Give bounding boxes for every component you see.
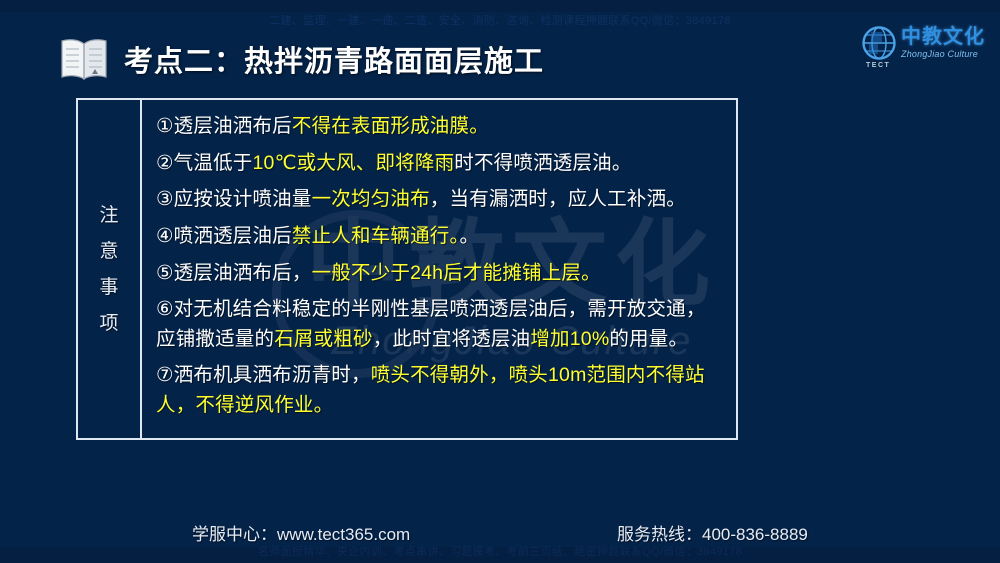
note-item: ④喷洒透层油后禁止人和车辆通行。。: [156, 222, 724, 252]
note-text: ，此时宜将透层油: [373, 328, 531, 350]
notes-label-char: 意: [99, 242, 118, 261]
note-text: ④喷洒透层油后: [156, 225, 292, 247]
notes-label-char: 注: [99, 206, 118, 225]
notes-label-column: 注意事项: [78, 100, 142, 438]
promo-text-bottom: 名师面授精华、央企内训、考点串讲、习题模考、考前三页纸、绝密押题联系QQ/微信：…: [0, 543, 1000, 559]
globe-icon: TECT: [862, 26, 896, 60]
slide: 二建、监理、一建、一造、二造、安全、消防、咨询、检测课程押题联系QQ/微信：38…: [0, 0, 1000, 563]
note-item: ③应按设计喷油量一次均匀油布，当有漏洒时，应人工补洒。: [156, 185, 724, 215]
footer-hotline: 服务热线：400-836-8889: [617, 520, 808, 545]
open-book-icon: [58, 36, 110, 82]
note-item: ⑤透层油洒布后，一般不少于24h后才能摊铺上层。: [156, 259, 724, 289]
note-text-highlight: 增加10%: [530, 328, 609, 350]
promo-text-top: 二建、监理、一建、一造、二造、安全、消防、咨询、检测课程押题联系QQ/微信：38…: [0, 12, 1000, 28]
heading-title-text: 考点二：热拌沥青路面面层施工: [124, 38, 544, 80]
note-item: ⑥对无机结合料稳定的半刚性基层喷洒透层油后，需开放交通，应铺撒适量的石屑或粗砂，…: [156, 295, 724, 354]
note-text-highlight: 10℃或大风、即将降雨: [252, 152, 454, 174]
note-text: 的用量。: [609, 328, 688, 350]
note-text: ②气温低于: [156, 152, 252, 174]
logo-wordmark: 中教文化 ZhongJiao Culture: [901, 27, 985, 59]
notes-label-char: 事: [99, 278, 118, 297]
note-text: 时不得喷洒透层油。: [454, 152, 631, 174]
notes-items-column: ①透层油洒布后不得在表面形成油膜。②气温低于10℃或大风、即将降雨时不得喷洒透层…: [142, 100, 736, 438]
note-text: ①透层油洒布后: [156, 115, 292, 137]
note-text: ，当有漏洒时，应人工补洒。: [430, 188, 686, 210]
note-text-highlight: 一次均匀油布: [312, 188, 430, 210]
logo-tect-mark: TECT: [866, 62, 890, 69]
note-text-highlight: 石屑或粗砂: [274, 328, 373, 350]
note-item: ①透层油洒布后不得在表面形成油膜。: [156, 112, 724, 142]
page-title: 考点二：热拌沥青路面面层施工: [58, 36, 544, 82]
notes-table: 注意事项 ①透层油洒布后不得在表面形成油膜。②气温低于10℃或大风、即将降雨时不…: [76, 98, 738, 440]
note-text-highlight: 不得在表面形成油膜。: [292, 115, 489, 137]
note-text: ⑦洒布机具洒布沥青时，: [156, 364, 371, 386]
logo-name-cn: 中教文化: [901, 27, 985, 47]
note-text: ⑤透层油洒布后，: [156, 262, 312, 284]
footer-service-center: 学服中心：www.tect365.com: [192, 520, 410, 545]
note-text: 。: [459, 225, 479, 247]
top-bar: [0, 0, 1000, 12]
note-text: ③应按设计喷油量: [156, 188, 312, 210]
note-item: ⑦洒布机具洒布沥青时，喷头不得朝外，喷头10m范围内不得站人，不得逆风作业。: [156, 361, 724, 420]
logo-name-en: ZhongJiao Culture: [901, 50, 985, 59]
brand-logo: TECT 中教文化 ZhongJiao Culture: [862, 17, 988, 69]
notes-label-char: 项: [99, 314, 118, 333]
note-text-highlight: 禁止人和车辆通行。: [292, 225, 460, 247]
note-text-highlight: 一般不少于24h后才能摊铺上层。: [312, 262, 601, 284]
note-item: ②气温低于10℃或大风、即将降雨时不得喷洒透层油。: [156, 149, 724, 179]
